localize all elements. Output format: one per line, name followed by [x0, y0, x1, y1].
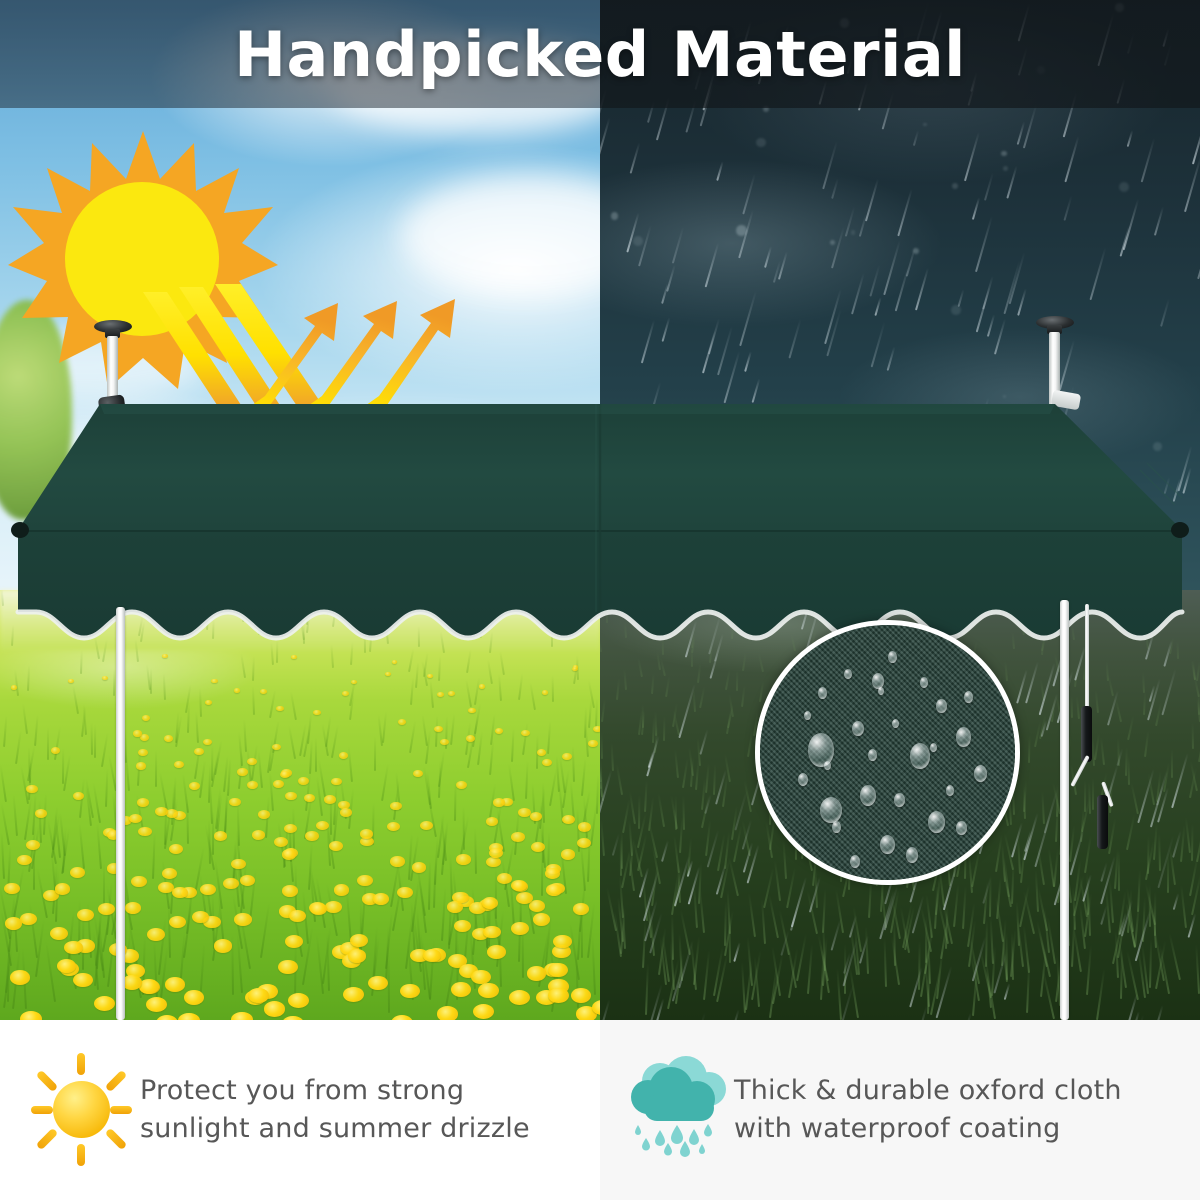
feature-captions: Protect you from strong sunlight and sum… [0, 1020, 1200, 1200]
caption-text: Protect you from strong sunlight and sum… [140, 1072, 530, 1149]
sun-ray [36, 1070, 59, 1093]
sun-ray [105, 1070, 128, 1093]
sun-icon [8, 125, 278, 395]
caption-text: Thick & durable oxford cloth with waterp… [734, 1072, 1122, 1149]
sun-ray [110, 1106, 132, 1114]
header-banner: Handpicked Material [0, 0, 1200, 108]
caption-line-1: Thick & durable oxford cloth [734, 1075, 1122, 1106]
product-feature-image: Handpicked Material Protect you from str… [0, 0, 1200, 1200]
sun-ray [36, 1128, 59, 1151]
sun-ray [77, 1053, 85, 1075]
sun-ray [31, 1106, 53, 1114]
sun-ray [105, 1128, 128, 1151]
sun-disc [53, 1081, 110, 1138]
caption-line-1: Protect you from strong [140, 1075, 464, 1106]
caption-line-2: with waterproof coating [734, 1110, 1122, 1148]
sun-uv-reflection-graphic [8, 125, 278, 395]
sun-icon [22, 1051, 140, 1169]
caption-line-2: sunlight and summer drizzle [140, 1110, 530, 1148]
rain-cloud-svg [616, 1051, 734, 1169]
cloud-wisp [180, 420, 600, 510]
caption-waterproof: Thick & durable oxford cloth with waterp… [600, 1020, 1200, 1200]
rain-cloud-icon [616, 1051, 734, 1169]
sun-ray [77, 1144, 85, 1166]
waterproof-fabric-closeup [755, 620, 1020, 885]
caption-sun-protection: Protect you from strong sunlight and sum… [0, 1020, 600, 1200]
page-title: Handpicked Material [0, 0, 1200, 108]
rain-drops [635, 1124, 712, 1157]
